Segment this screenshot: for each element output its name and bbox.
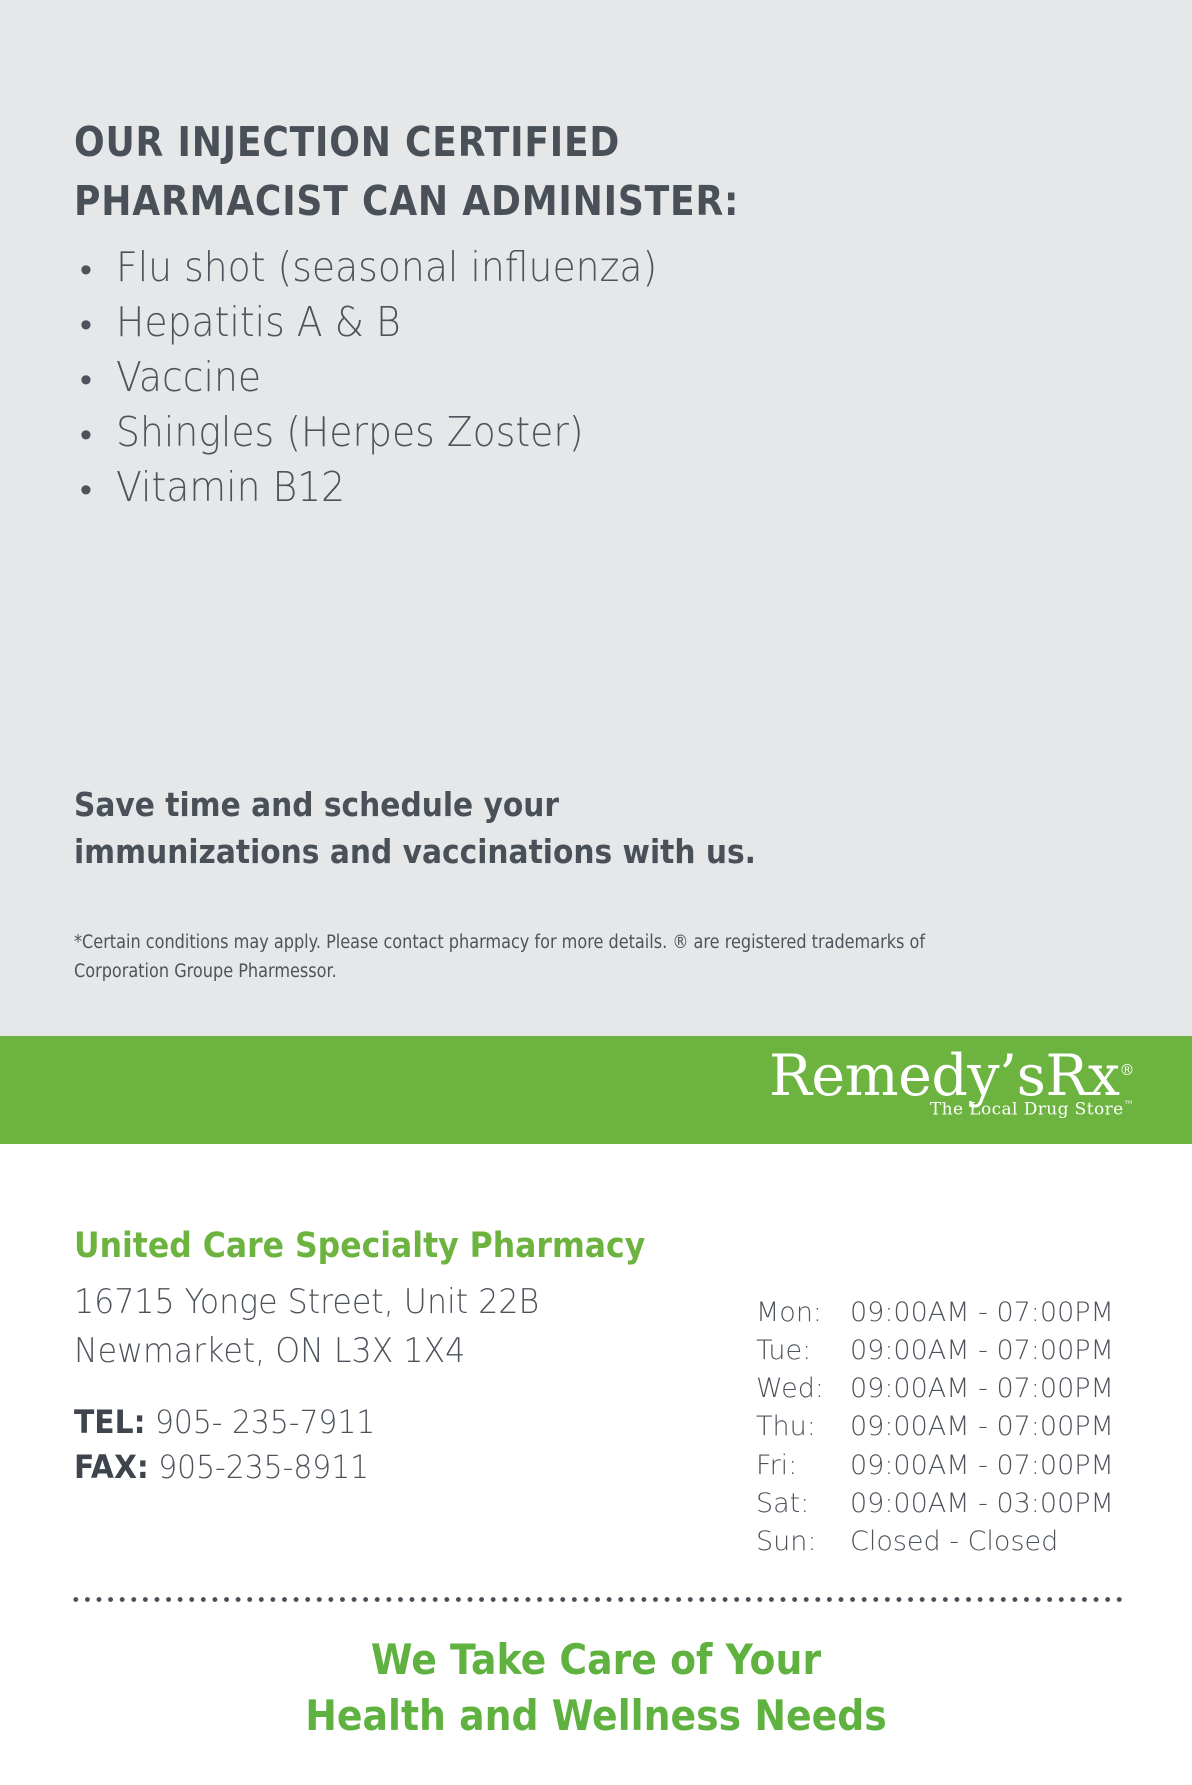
disclaimer-line-1: *Certain conditions may apply. Please co… — [74, 928, 992, 957]
cta-line-1: Save time and schedule your — [74, 782, 866, 829]
pharmacy-name: United Care Specialty Pharmacy — [74, 1226, 645, 1266]
list-item: • Flu shot (seasonal influenza) — [74, 240, 974, 295]
hours-time: 09:00AM - 07:00PM — [850, 1336, 1114, 1374]
pharmacy-contact-numbers: TEL: 905- 235-7911 FAX: 905-235-8911 — [74, 1400, 398, 1490]
bullet-icon: • — [74, 303, 116, 349]
pharmacy-contact-panel: United Care Specialty Pharmacy 16715 Yon… — [0, 1144, 1192, 1785]
table-row: Sun: Closed - Closed — [756, 1527, 1114, 1565]
page-title-line-1: OUR INJECTION CERTIFIED — [74, 113, 796, 171]
table-row: Thu: 09:00AM - 07:00PM — [756, 1412, 1114, 1450]
disclaimer-text: *Certain conditions may apply. Please co… — [74, 928, 1129, 986]
disclaimer-line-2: Corporation Groupe Pharmessor. — [74, 957, 992, 986]
list-item-label: Hepatitis A & B — [116, 295, 401, 350]
brand-banner: Remedy’sRx® The Local Drug Store™ — [0, 1036, 1192, 1144]
hours-time: 09:00AM - 07:00PM — [850, 1451, 1114, 1489]
page-title: OUR INJECTION CERTIFIED PHARMACIST CAN A… — [74, 113, 796, 229]
hours-day: Wed: — [756, 1374, 850, 1412]
table-row: Fri: 09:00AM - 07:00PM — [756, 1451, 1114, 1489]
list-item: • Vaccine — [74, 350, 974, 405]
table-row: Wed: 09:00AM - 07:00PM — [756, 1374, 1114, 1412]
services-list: • Flu shot (seasonal influenza) • Hepati… — [74, 240, 974, 515]
list-item-label: Vaccine — [116, 350, 261, 405]
dotted-divider — [70, 1597, 1122, 1602]
bullet-icon: • — [74, 358, 116, 404]
list-item: • Hepatitis A & B — [74, 295, 974, 350]
footer-tagline: We Take Care of Your Health and Wellness… — [0, 1632, 1192, 1744]
fax-row: FAX: 905-235-8911 — [74, 1445, 375, 1490]
telephone-label: TEL: — [74, 1403, 145, 1441]
immunization-info-panel: OUR INJECTION CERTIFIED PHARMACIST CAN A… — [0, 0, 1192, 1036]
cta-line-2: immunizations and vaccinations with us. — [74, 829, 866, 876]
hours-time: Closed - Closed — [850, 1527, 1114, 1565]
list-item-label: Vitamin B12 — [116, 460, 345, 515]
hours-time: 09:00AM - 07:00PM — [850, 1298, 1114, 1336]
bullet-icon: • — [74, 248, 116, 294]
hours-day: Mon: — [756, 1298, 850, 1336]
address-line-2: Newmarket, ON L3X 1X4 — [74, 1327, 539, 1376]
hours-day: Sun: — [756, 1527, 850, 1565]
remedysrx-logo: Remedy’sRx® The Local Drug Store™ — [769, 1048, 1134, 1119]
bullet-icon: • — [74, 413, 116, 459]
footer-tagline-line-1: We Take Care of Your — [60, 1632, 1133, 1688]
bullet-icon: • — [74, 468, 116, 514]
logo-tagline-text: The Local Drug Store — [930, 1100, 1124, 1120]
hours-time: 09:00AM - 07:00PM — [850, 1412, 1114, 1450]
registered-trademark-icon: ® — [1120, 1061, 1135, 1079]
hours-day: Tue: — [756, 1336, 850, 1374]
telephone-value[interactable]: 905- 235-7911 — [155, 1403, 375, 1441]
hours-day: Thu: — [756, 1412, 850, 1450]
table-row: Mon: 09:00AM - 07:00PM — [756, 1298, 1114, 1336]
logo-wordmark: Remedy’sRx® — [769, 1048, 1134, 1105]
hours-day: Fri: — [756, 1451, 850, 1489]
call-to-action-message: Save time and schedule your immunization… — [74, 782, 954, 876]
store-hours-table: Mon: 09:00AM - 07:00PM Tue: 09:00AM - 07… — [756, 1298, 1114, 1565]
table-row: Sat: 09:00AM - 03:00PM — [756, 1489, 1114, 1527]
trademark-icon: ™ — [1124, 1100, 1134, 1111]
page-title-line-2: PHARMACIST CAN ADMINISTER: — [74, 172, 796, 230]
address-line-1: 16715 Yonge Street, Unit 22B — [74, 1278, 539, 1327]
table-row: Tue: 09:00AM - 07:00PM — [756, 1336, 1114, 1374]
list-item: • Vitamin B12 — [74, 460, 974, 515]
pharmacy-address: 16715 Yonge Street, Unit 22B Newmarket, … — [74, 1278, 574, 1377]
list-item-label: Flu shot (seasonal influenza) — [116, 240, 657, 295]
list-item: • Shingles (Herpes Zoster) — [74, 405, 974, 460]
hours-time: 09:00AM - 03:00PM — [850, 1489, 1114, 1527]
hours-time: 09:00AM - 07:00PM — [850, 1374, 1114, 1412]
fax-label: FAX: — [74, 1448, 149, 1486]
fax-value: 905-235-8911 — [158, 1448, 369, 1486]
footer-tagline-line-2: Health and Wellness Needs — [60, 1688, 1133, 1744]
hours-day: Sat: — [756, 1489, 850, 1527]
telephone-row: TEL: 905- 235-7911 — [74, 1400, 375, 1445]
list-item-label: Shingles (Herpes Zoster) — [116, 405, 584, 460]
